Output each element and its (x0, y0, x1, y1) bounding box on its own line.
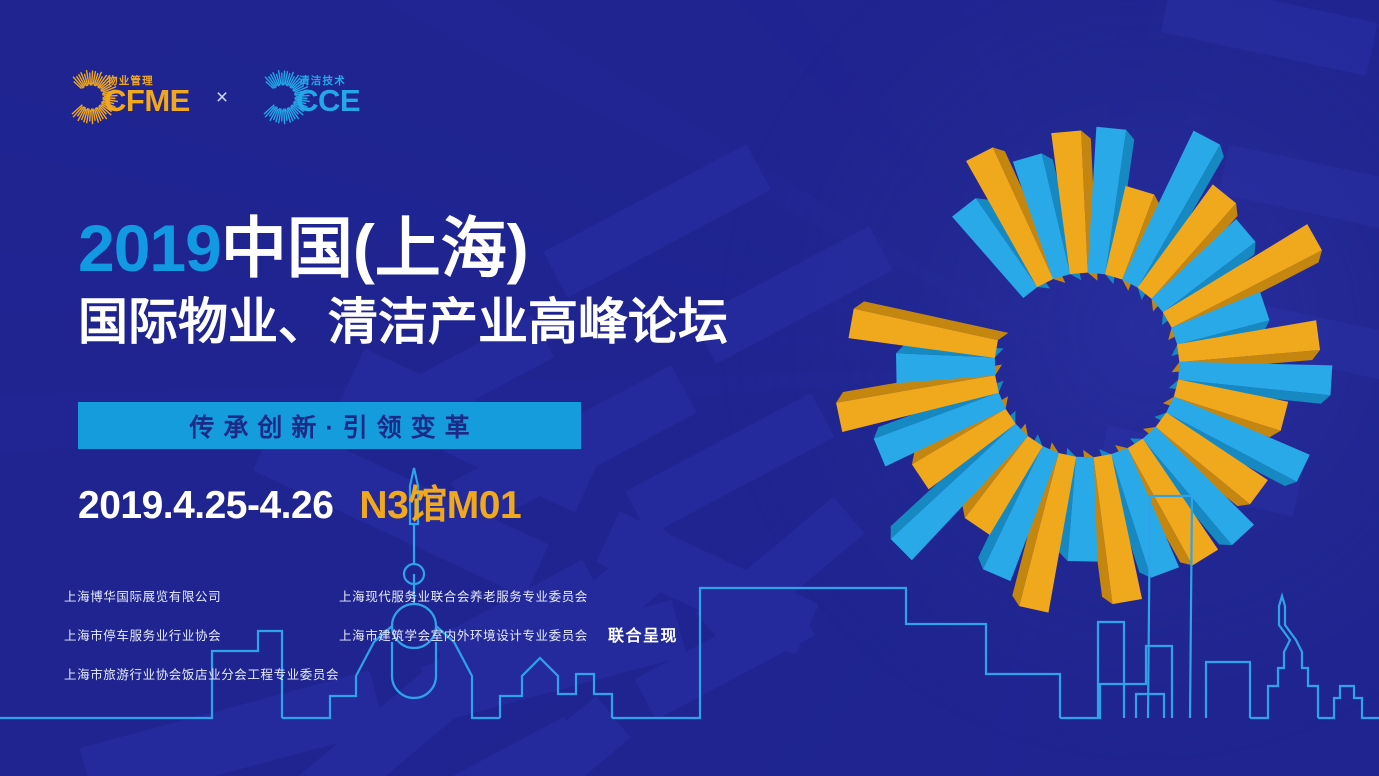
organizer-row: 上海博华国际展览有限公司 上海现代服务业联合会养老服务专业委员会 (64, 590, 684, 605)
cfme-en-label: CFME (104, 87, 190, 116)
logo-bar: 物业管理 CFME × 清洁技术 CCE (62, 58, 360, 136)
organizer-list: 上海博华国际展览有限公司 上海现代服务业联合会养老服务专业委员会 上海市停车服务… (64, 590, 684, 683)
organizer-row: 上海市旅游行业协会饭店业分会工程专业委员会 (64, 668, 684, 683)
cce-en-label: CCE (296, 87, 360, 116)
headline-place: 中国(上海) (221, 211, 529, 285)
slogan-text: 传承创新·引领变革 (180, 408, 478, 444)
poster-canvas: 物业管理 CFME × 清洁技术 CCE 2019中国(上海) 国际物业、清洁产… (0, 0, 1379, 776)
organizer-name: 上海市旅游行业协会饭店业分会工程专业委员会 (64, 668, 339, 683)
organizer-name: 上海市停车服务业行业协会 (64, 629, 339, 644)
organizer-name: 上海市建筑学会室内外环境设计专业委员会 (339, 629, 588, 644)
logo-cfme[interactable]: 物业管理 CFME (62, 68, 190, 126)
headline-line-1: 2019中国(上海) (78, 214, 728, 283)
headline-subtitle: 国际物业、清洁产业高峰论坛 (78, 295, 728, 350)
headline-block: 2019中国(上海) 国际物业、清洁产业高峰论坛 (78, 214, 728, 350)
organizer-row: 上海市停车服务业行业协会 上海市建筑学会室内外环境设计专业委员会 (64, 629, 684, 644)
logo-cce[interactable]: 清洁技术 CCE (254, 68, 360, 126)
event-date-range: 2019.4.25-4.26 (78, 484, 333, 528)
organizer-name: 上海现代服务业联合会养老服务专业委员会 (339, 590, 588, 605)
dateline-block: 2019.4.25-4.26 N3馆M01 (78, 474, 521, 530)
headline-year: 2019 (78, 211, 221, 285)
slogan-banner: 传承创新·引领变革 (78, 402, 581, 449)
event-booth-number: N3馆M01 (359, 474, 521, 530)
present-label: 联合呈现 (608, 622, 678, 646)
logo-separator-icon: × (216, 87, 228, 108)
organizer-name: 上海博华国际展览有限公司 (64, 590, 339, 605)
